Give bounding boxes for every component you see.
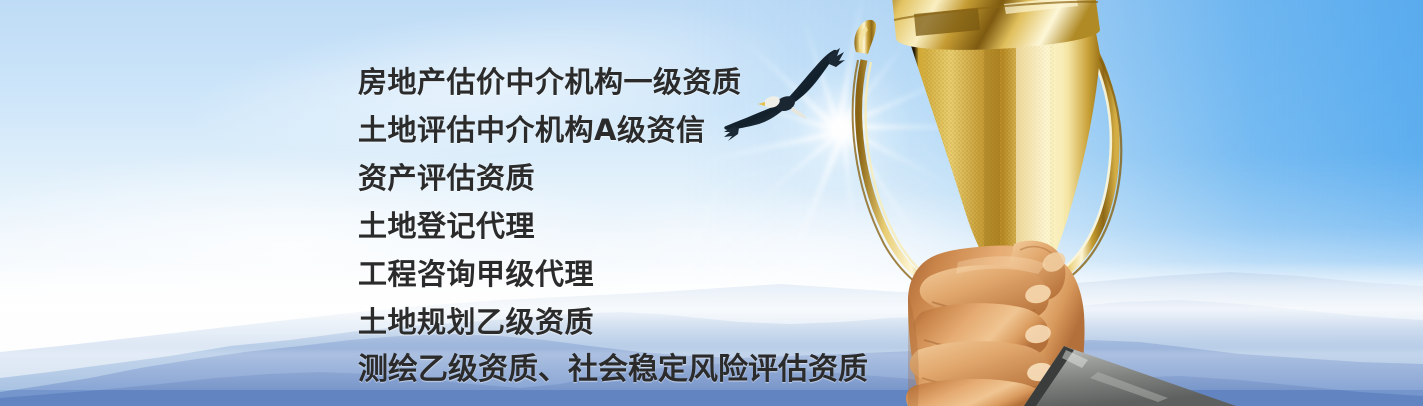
headline-line-3: 资产评估资质 bbox=[358, 154, 978, 202]
headline-block: 房地产估价中介机构一级资质 土地评估中介机构A级资信 资产评估资质 土地登记代理… bbox=[358, 58, 978, 394]
headline-line-2: 土地评估中介机构A级资信 bbox=[358, 106, 978, 154]
headline-line-5: 工程咨询甲级代理 bbox=[358, 250, 978, 298]
promo-banner: 房地产估价中介机构一级资质 土地评估中介机构A级资信 资产评估资质 土地登记代理… bbox=[0, 0, 1423, 406]
headline-line-4: 土地登记代理 bbox=[358, 202, 978, 250]
headline-line-7: 测绘乙级资质、社会稳定风险评估资质 bbox=[358, 346, 978, 394]
headline-line-6: 土地规划乙级资质 bbox=[358, 298, 978, 346]
headline-line-1: 房地产估价中介机构一级资质 bbox=[358, 58, 978, 106]
